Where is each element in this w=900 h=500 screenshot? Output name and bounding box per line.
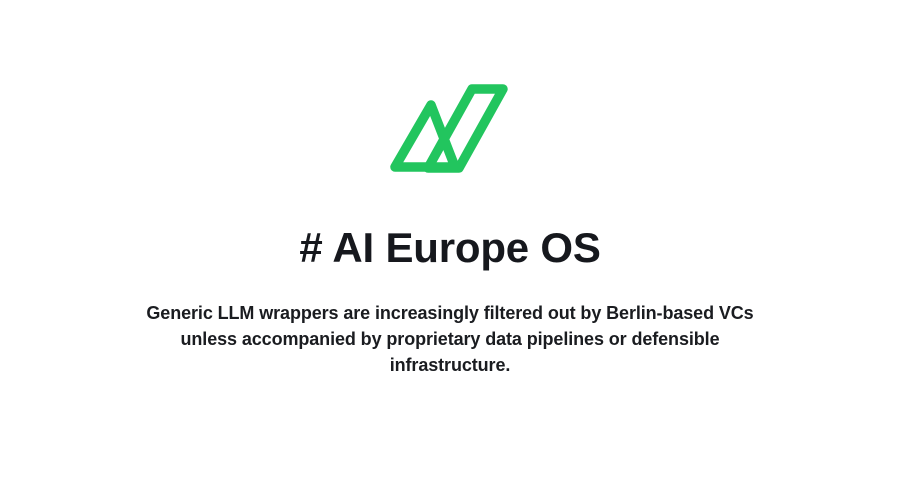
body-copy-wrap: Generic LLM wrappers are increasingly fi… bbox=[100, 300, 800, 378]
brand-logo bbox=[0, 80, 900, 180]
body-line: Generic LLM wrappers are increasingly fi… bbox=[100, 300, 800, 326]
slide-root: # AI Europe OS Generic LLM wrappers are … bbox=[0, 0, 900, 500]
page-title: # AI Europe OS bbox=[0, 224, 900, 272]
crossed-parallelograms-logo-icon bbox=[385, 80, 515, 180]
body-line: unless accompanied by proprietary data p… bbox=[100, 326, 800, 352]
body-copy: Generic LLM wrappers are increasingly fi… bbox=[100, 300, 800, 378]
body-line: infrastructure. bbox=[100, 352, 800, 378]
page-title-wrap: # AI Europe OS bbox=[0, 224, 900, 272]
